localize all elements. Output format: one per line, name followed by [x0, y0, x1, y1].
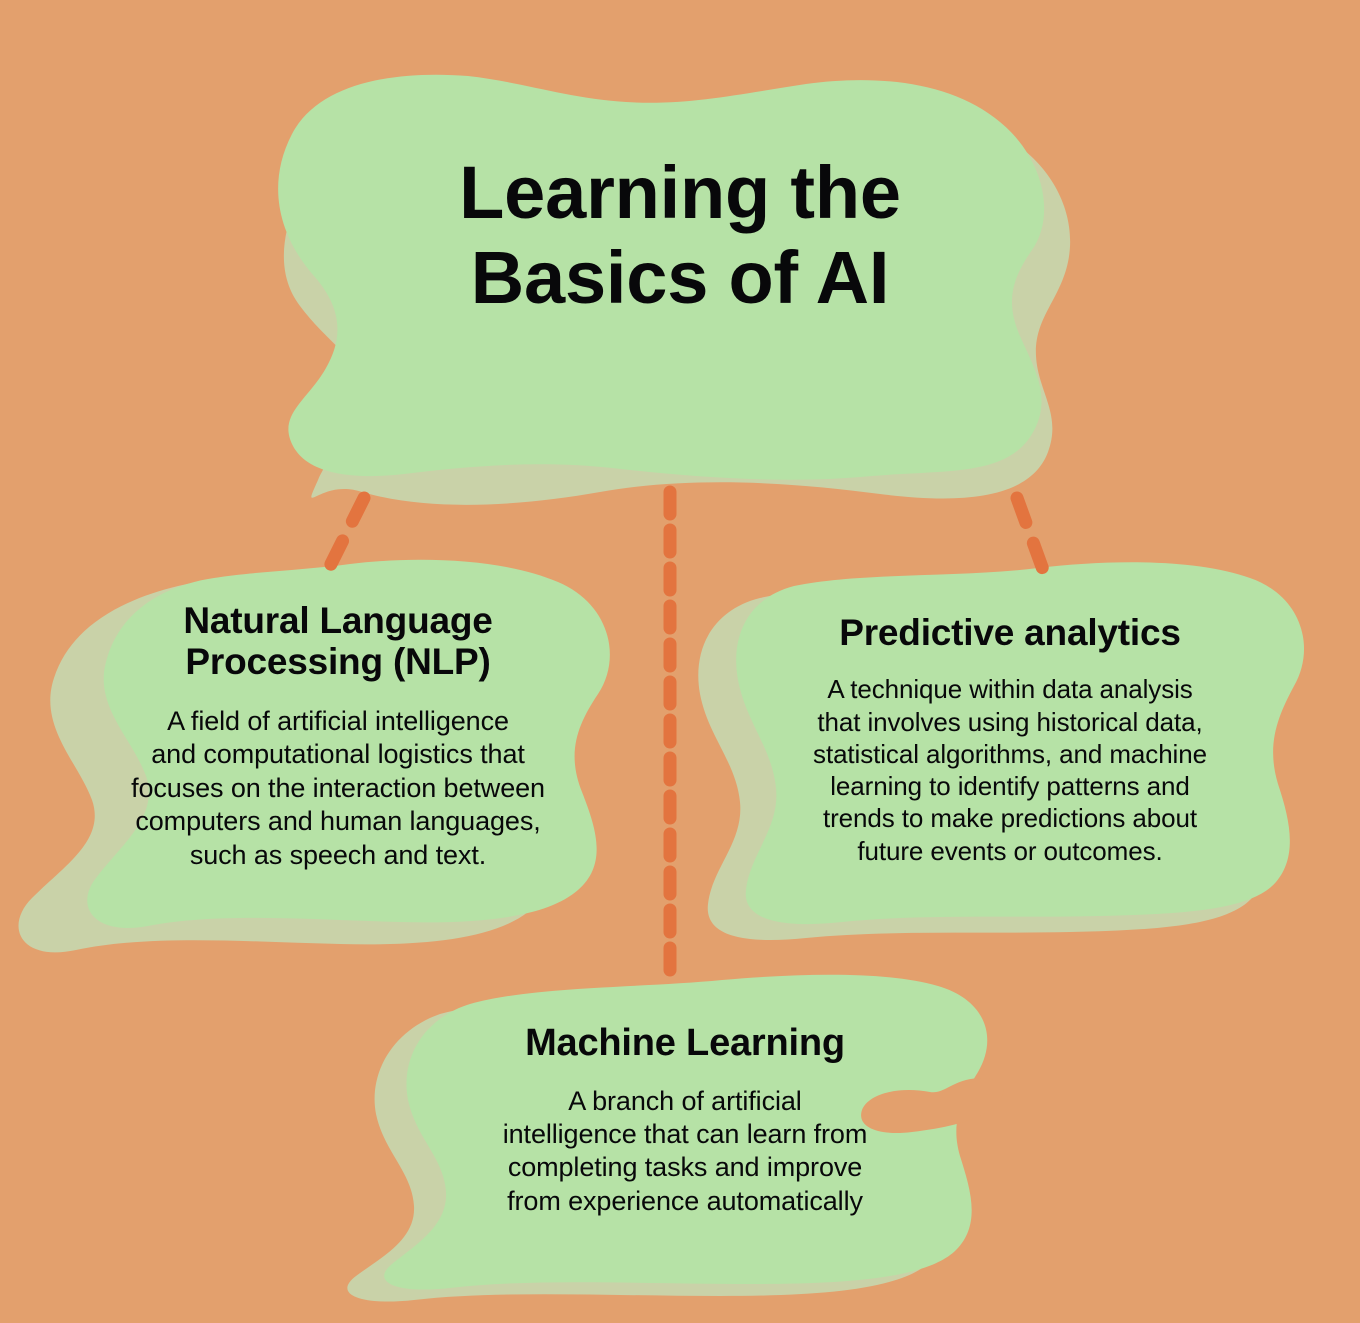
ml-node-title: Machine Learning — [420, 1022, 950, 1065]
node-nlp[interactable]: Natural Language Processing (NLP) A fiel… — [78, 600, 598, 872]
node-predictive-analytics[interactable]: Predictive analytics A technique within … — [760, 612, 1260, 867]
connector-root-to-nlp — [324, 498, 364, 578]
predictive-node-title: Predictive analytics — [760, 612, 1260, 653]
predictive-node-body: A technique within data analysis that in… — [760, 673, 1260, 866]
node-machine-learning[interactable]: Machine Learning A branch of artificial … — [420, 1022, 950, 1218]
root-node-title: Learning the Basics of AI — [300, 150, 1060, 320]
ml-node-body: A branch of artificial intelligence that… — [420, 1085, 950, 1219]
connector-root-to-predictive-analytics — [1017, 498, 1046, 578]
diagram-canvas: Learning the Basics of AI Natural Langua… — [0, 0, 1360, 1323]
node-root[interactable]: Learning the Basics of AI — [300, 150, 1060, 320]
nlp-node-title: Natural Language Processing (NLP) — [78, 600, 598, 683]
nlp-node-body: A field of artificial intelligence and c… — [78, 705, 598, 872]
